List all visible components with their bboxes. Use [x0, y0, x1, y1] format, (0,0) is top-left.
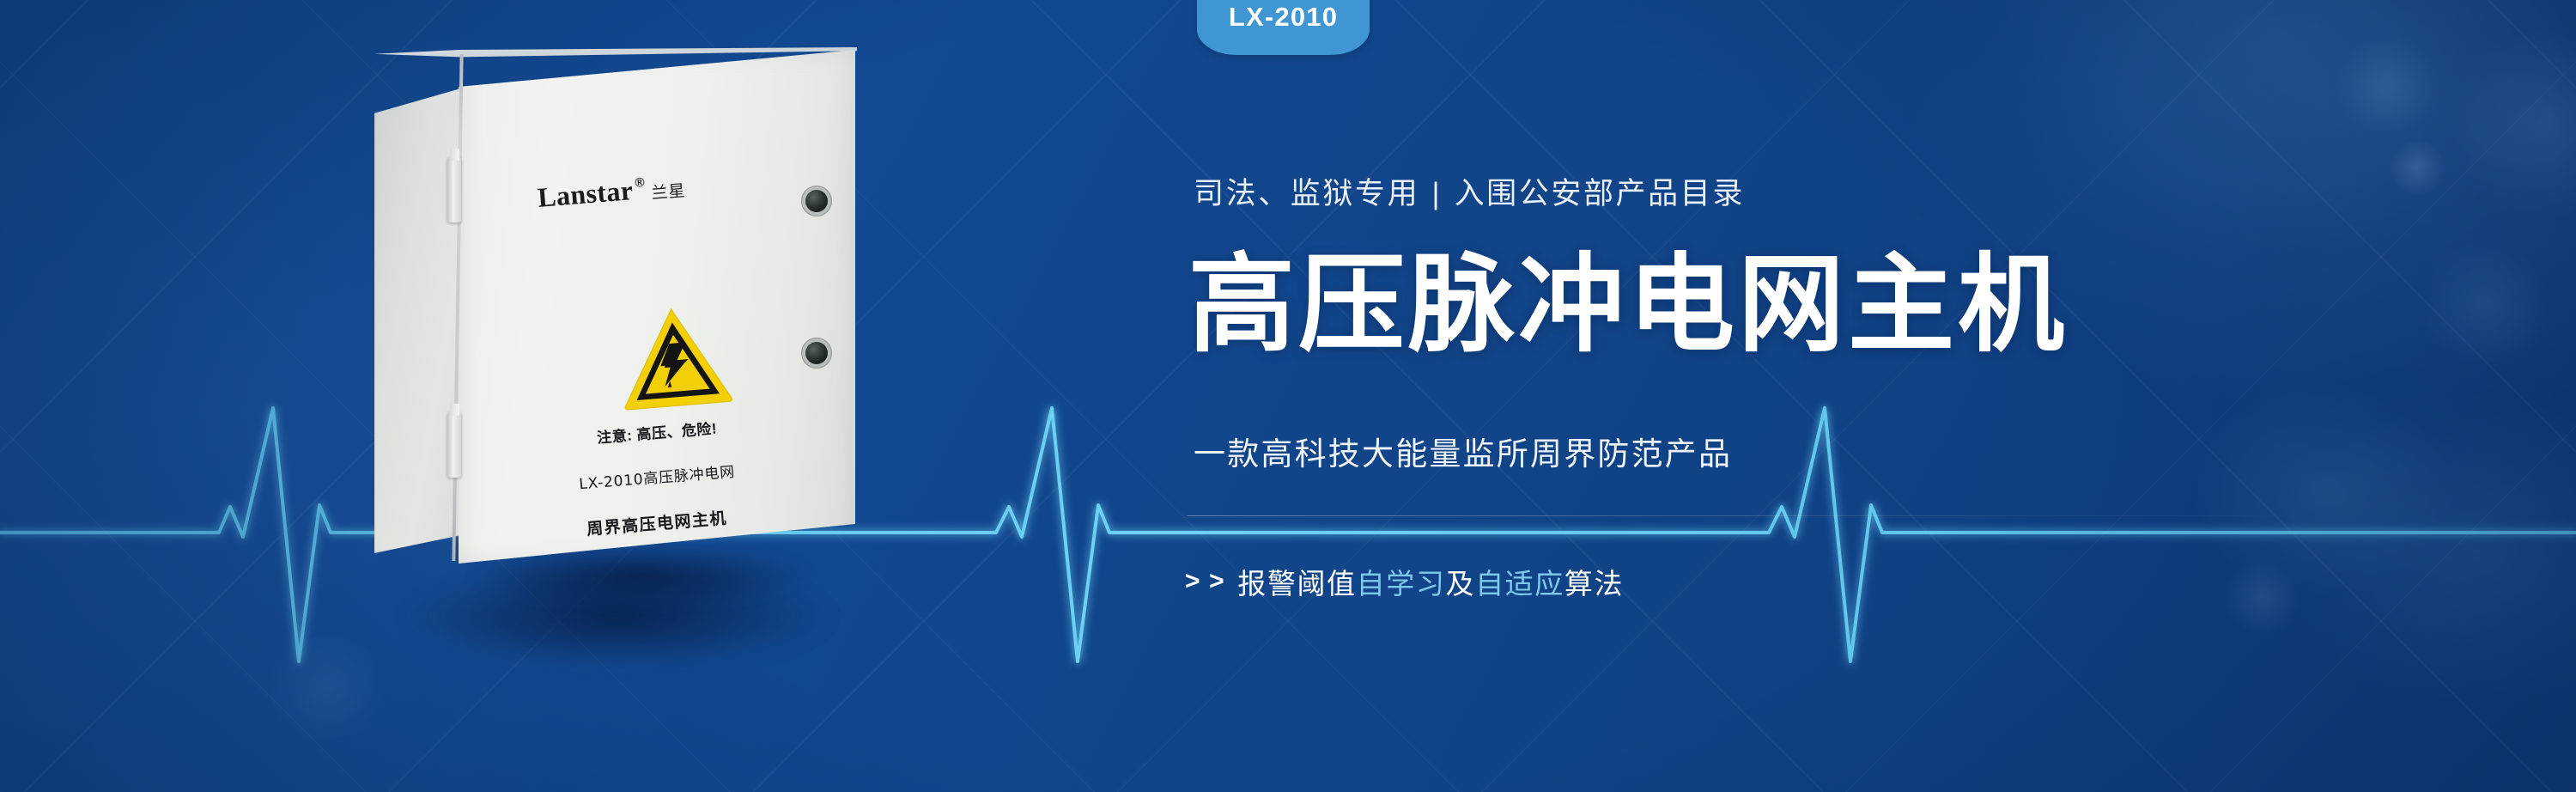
brand-chinese-text: 兰星 [650, 178, 686, 204]
bokeh-light-2 [2447, 26, 2576, 223]
divider-rule [1187, 515, 2303, 516]
chevron-marker-2: > [1209, 567, 1225, 596]
feature-highlight-2: 自适应 [1475, 561, 1564, 602]
indicator-lamp-upper [805, 190, 828, 212]
feature-highlight-1: 自学习 [1357, 561, 1446, 602]
cabinet-hinge-cap-upper [450, 149, 459, 161]
product-image: Lanstar ® 兰星 注意: 高压、危险! LX-2010高压脉冲电网 周界… [369, 47, 1022, 734]
eyebrow-text: 司法、监狱专用 | 入围公安部产品目录 [1194, 169, 1745, 213]
page-title: 高压脉冲电网主机 [1188, 249, 2068, 362]
brand-registered-mark: ® [635, 175, 645, 191]
cabinet-hinge-cap-lower [450, 404, 459, 416]
model-badge: LX-2010 [1197, 0, 1370, 55]
eyebrow-left-text: 司法、监狱专用 [1194, 177, 1419, 210]
cabinet-hinge-upper [447, 157, 461, 222]
bokeh-light-4 [2421, 241, 2550, 369]
tagline-text: 一款高科技大能量监所周界防范产品 [1194, 428, 1732, 474]
bokeh-light-1 [2336, 34, 2439, 137]
feature-text-part-1: 报警阈值 [1237, 561, 1356, 602]
indicator-lamp-lower [805, 342, 828, 364]
eyebrow-separator: | [1431, 177, 1444, 210]
eyebrow-right-text: 入围公安部产品目录 [1455, 177, 1745, 210]
feature-text-part-3: 算法 [1564, 561, 1624, 602]
feature-text-part-2: 及 [1445, 561, 1475, 602]
model-badge-label: LX-2010 [1229, 2, 1338, 33]
bokeh-light-3 [2387, 137, 2447, 198]
feature-line: > > 报警阈值 自学习 及 自适应 算法 [1185, 561, 1624, 602]
product-banner: Lanstar ® 兰星 注意: 高压、危险! LX-2010高压脉冲电网 周界… [0, 0, 2576, 792]
high-voltage-warning-icon [614, 301, 735, 412]
chevron-marker-1: > [1185, 567, 1201, 596]
bokeh-light-5 [2224, 558, 2301, 636]
